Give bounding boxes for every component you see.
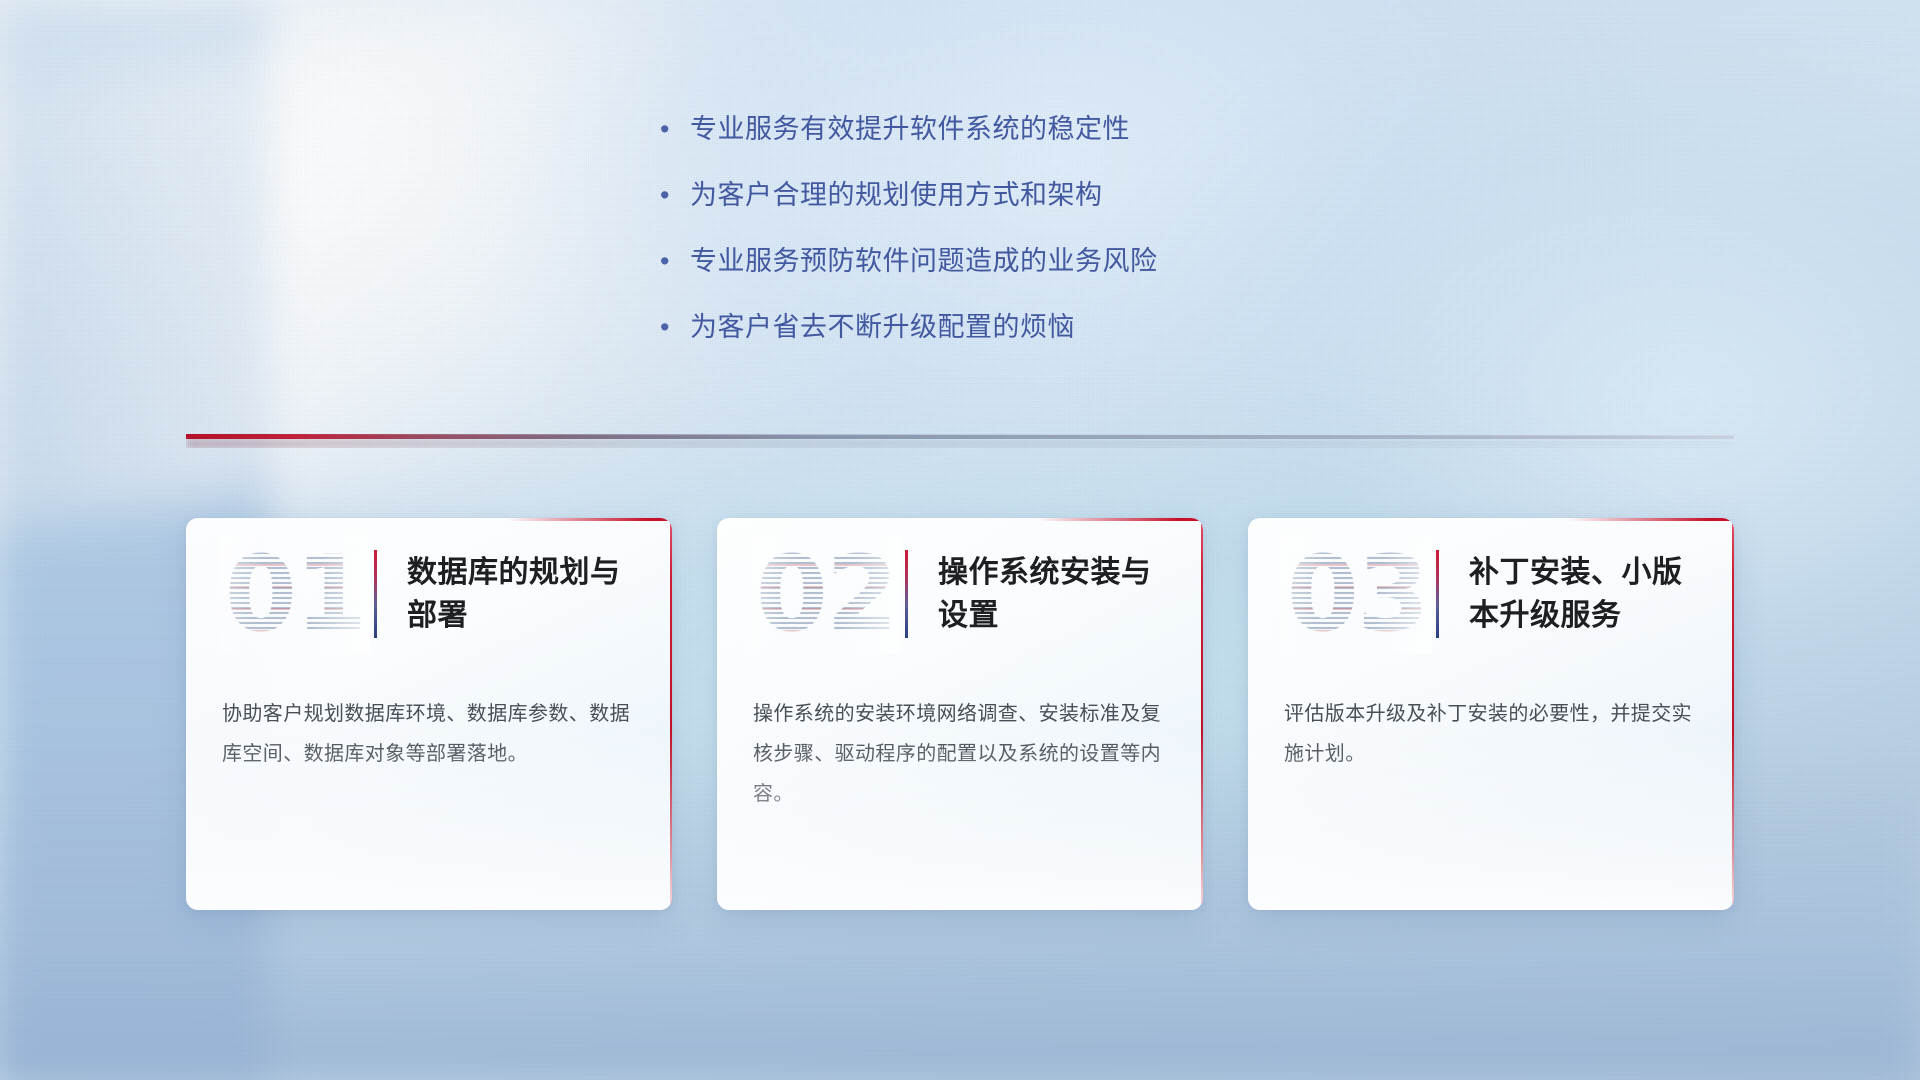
card-header: 01 01 数据库的规划与部署 xyxy=(186,518,672,670)
service-card[interactable]: 03 03 补丁安装、小版本升级服务 评估版本升级及补丁安装的必要性，并提交实施… xyxy=(1248,518,1734,910)
card-title: 数据库的规划与部署 xyxy=(407,551,646,637)
card-number-watermark: 02 02 xyxy=(751,534,901,654)
bullet-text: 为客户合理的规划使用方式和架构 xyxy=(690,178,1103,212)
card-header: 03 03 补丁安装、小版本升级服务 xyxy=(1248,518,1734,670)
bullet-item: • 为客户省去不断升级配置的烦恼 xyxy=(660,310,1420,344)
card-title-rule xyxy=(905,550,908,638)
card-title: 操作系统安装与设置 xyxy=(938,551,1177,637)
card-body-text: 操作系统的安装环境网络调查、安装标准及复核步骤、驱动程序的配置以及系统的设置等内… xyxy=(753,694,1165,814)
card-header: 02 02 操作系统安装与设置 xyxy=(717,518,1203,670)
section-divider xyxy=(186,430,1734,446)
service-card-row: 01 01 数据库的规划与部署 协助客户规划数据库环境、数据库参数、数据库空间、… xyxy=(186,518,1734,910)
slide-canvas: • 专业服务有效提升软件系统的稳定性 • 为客户合理的规划使用方式和架构 • 专… xyxy=(0,0,1920,1080)
card-number-text: 02 xyxy=(756,542,897,646)
bullet-text: 为客户省去不断升级配置的烦恼 xyxy=(690,310,1075,344)
bullet-text: 专业服务有效提升软件系统的稳定性 xyxy=(690,112,1130,146)
benefits-bullet-list: • 专业服务有效提升软件系统的稳定性 • 为客户合理的规划使用方式和架构 • 专… xyxy=(660,112,1420,376)
card-body: 协助客户规划数据库环境、数据库参数、数据库空间、数据库对象等部署落地。 xyxy=(186,694,672,774)
bullet-marker-icon: • xyxy=(660,310,690,344)
bullet-text: 专业服务预防软件问题造成的业务风险 xyxy=(690,244,1158,278)
bullet-item: • 为客户合理的规划使用方式和架构 xyxy=(660,178,1420,212)
bullet-item: • 专业服务预防软件问题造成的业务风险 xyxy=(660,244,1420,278)
bullet-marker-icon: • xyxy=(660,178,690,212)
service-card[interactable]: 01 01 数据库的规划与部署 协助客户规划数据库环境、数据库参数、数据库空间、… xyxy=(186,518,672,910)
card-number-watermark: 03 03 xyxy=(1282,534,1432,654)
bullet-marker-icon: • xyxy=(660,244,690,278)
card-title-rule xyxy=(374,550,377,638)
card-body-text: 协助客户规划数据库环境、数据库参数、数据库空间、数据库对象等部署落地。 xyxy=(222,694,634,774)
card-body: 评估版本升级及补丁安装的必要性，并提交实施计划。 xyxy=(1248,694,1734,774)
card-body-text: 评估版本升级及补丁安装的必要性，并提交实施计划。 xyxy=(1284,694,1696,774)
bullet-item: • 专业服务有效提升软件系统的稳定性 xyxy=(660,112,1420,146)
card-number-watermark: 01 01 xyxy=(220,534,370,654)
card-title-rule xyxy=(1436,550,1439,638)
service-card[interactable]: 02 02 操作系统安装与设置 操作系统的安装环境网络调查、安装标准及复核步骤、… xyxy=(717,518,1203,910)
divider-line xyxy=(186,434,1734,439)
divider-shadow xyxy=(186,439,1734,448)
card-number-text: 01 xyxy=(225,542,366,646)
card-number-text: 03 xyxy=(1287,542,1428,646)
card-title: 补丁安装、小版本升级服务 xyxy=(1469,551,1708,637)
card-body: 操作系统的安装环境网络调查、安装标准及复核步骤、驱动程序的配置以及系统的设置等内… xyxy=(717,694,1203,814)
bullet-marker-icon: • xyxy=(660,112,690,146)
